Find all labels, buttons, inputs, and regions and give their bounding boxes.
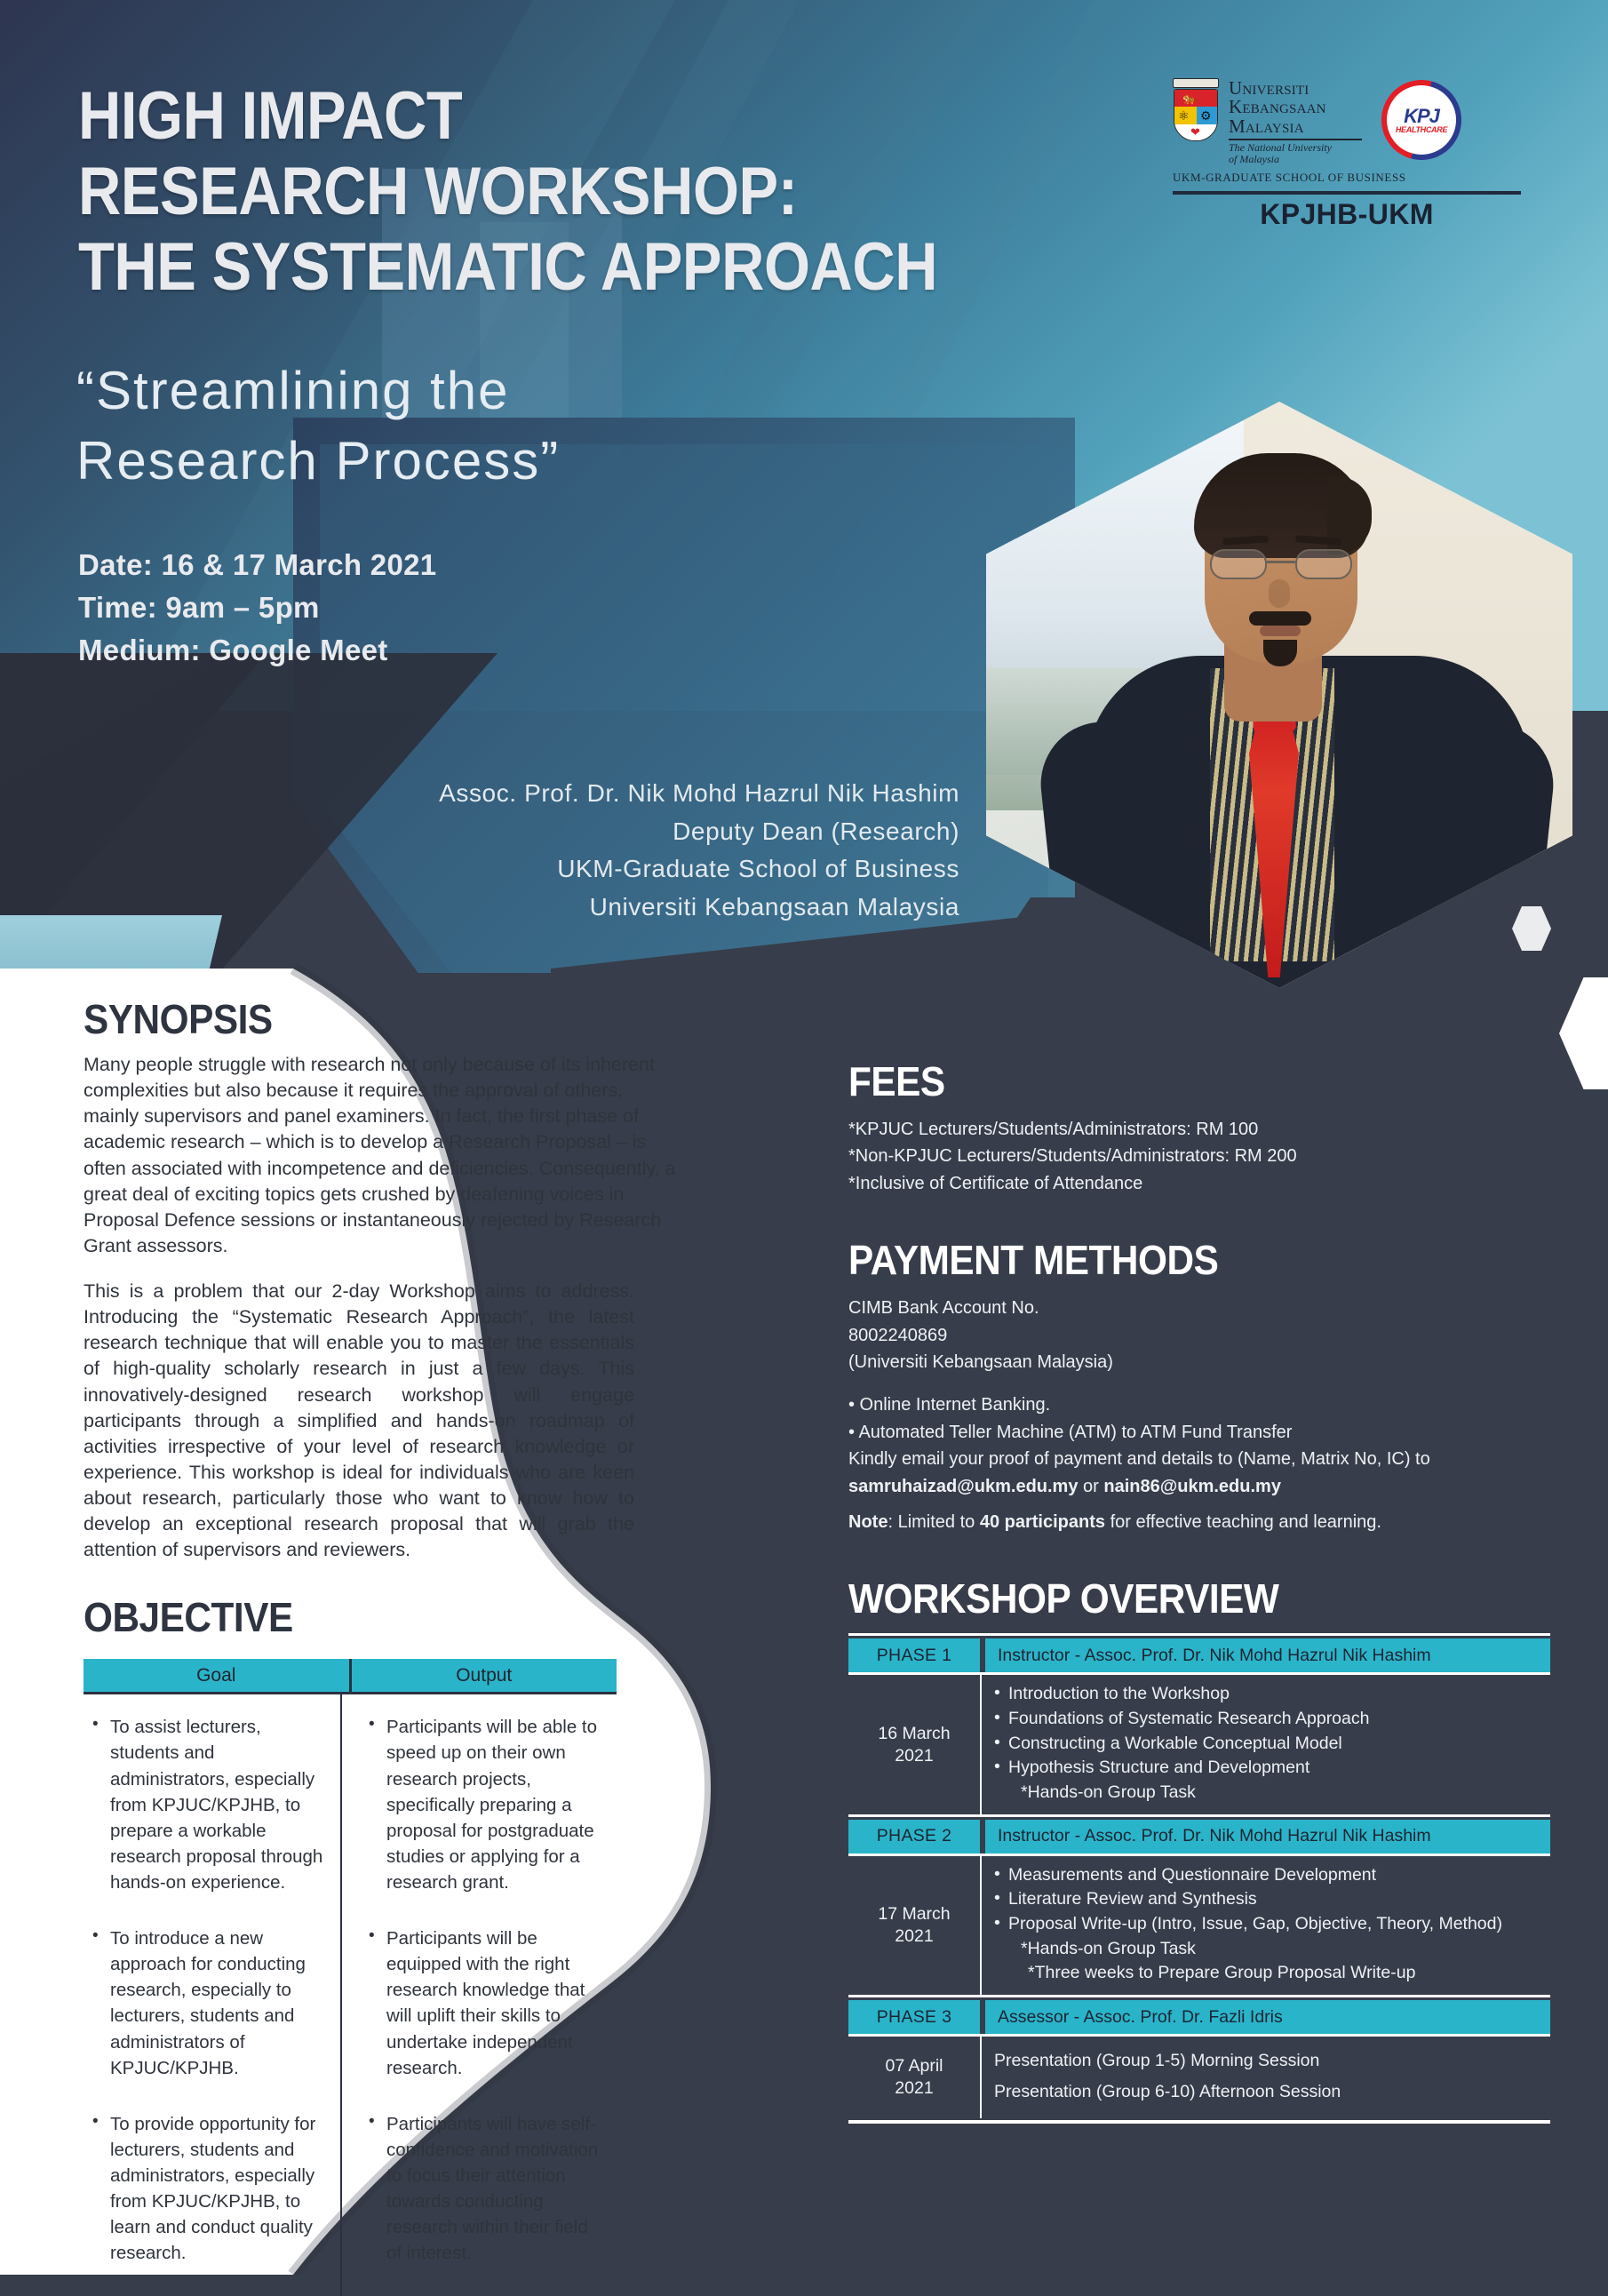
phase-label: PHASE 3 [848, 2000, 980, 2034]
list-item: *Hands-on Group Task [994, 1937, 1550, 1962]
synopsis-heading: SYNOPSIS [84, 995, 704, 1043]
table-row: 07 April 2021 Presentation (Group 1-5) M… [848, 2037, 1550, 2118]
phase-instructor: Instructor - Assoc. Prof. Dr. Nik Mohd H… [985, 1820, 1550, 1854]
note-mid: : Limited to [888, 1512, 979, 1532]
note-limit: 40 participants [980, 1512, 1105, 1532]
table-row: PHASE 1 Instructor - Assoc. Prof. Dr. Ni… [848, 1638, 1550, 1672]
phase-label: PHASE 1 [848, 1638, 980, 1672]
ukm-subtitle: The National University of Malaysia [1229, 142, 1362, 166]
ukm-logo: 🐅 ⚛ ⚙ ❤ Universiti Kebangsaan Malaysia T… [1171, 78, 1362, 165]
contact-email-1[interactable]: samruhaizad@ukm.edu.my [848, 1477, 1078, 1496]
workshop-overview-table: PHASE 1 Instructor - Assoc. Prof. Dr. Ni… [848, 1633, 1550, 2124]
note-end: for effective teaching and learning. [1105, 1512, 1381, 1532]
table-row: PHASE 3 Assessor - Assoc. Prof. Dr. Fazl… [848, 2000, 1550, 2034]
right-column: FEES *KPJUC Lecturers/Students/Administr… [848, 1057, 1550, 2124]
speaker-info: Assoc. Prof. Dr. Nik Mohd Hazrul Nik Has… [302, 775, 959, 926]
objective-output-column: Participants will be able to speed up on… [342, 1694, 617, 2296]
workshop-tagline: “Streamlining the Research Process” [76, 355, 560, 496]
list-item: Presentation (Group 6-10) Afternoon Sess… [994, 2077, 1550, 2108]
synopsis-paragraph-2: This is a problem that our 2-day Worksho… [84, 1279, 634, 1563]
phase-items: Presentation (Group 1-5) Morning Session… [982, 2037, 1550, 2118]
objective-goal-column: To assist lecturers, students and admini… [84, 1694, 340, 2296]
list-item: *Hands-on Group Task [994, 1781, 1550, 1806]
ukm-name-line3: Malaysia [1229, 117, 1362, 136]
workshop-overview-heading: WORKSHOP OVERVIEW [848, 1575, 1494, 1622]
list-item: Literature Review and Synthesis [994, 1887, 1550, 1912]
fees-line-1: *KPJUC Lecturers/Students/Administrators… [848, 1116, 1550, 1143]
objective-table: Goal Output To assist lecturers, student… [84, 1659, 617, 2296]
objective-output-item: Participants will be able to speed up on… [369, 1714, 602, 1895]
list-item: Measurements and Questionnaire Developme… [994, 1863, 1550, 1888]
table-row: 17 March 2021 Measurements and Questionn… [848, 1856, 1550, 1995]
objective-output-item: Participants will be equipped with the r… [369, 1925, 602, 2081]
ukm-name-line2: Kebangsaan [1229, 98, 1362, 116]
kpj-logo-text: KPJ [1404, 107, 1439, 126]
list-item: Proposal Write-up (Intro, Issue, Gap, Ob… [994, 1912, 1550, 1937]
synopsis-paragraph-1: Many people struggle with research not o… [84, 1052, 679, 1259]
kpj-healthcare-logo: KPJ HEALTHCARE [1381, 80, 1461, 160]
list-item: Hypothesis Structure and Development [994, 1756, 1550, 1781]
bank-account-holder: (Universiti Kebangsaan Malaysia) [848, 1349, 1550, 1375]
note-label: Note [848, 1512, 888, 1532]
phase-date: 17 March 2021 [848, 1856, 980, 1995]
partnership-label: KPJHB-UKM [1173, 198, 1521, 231]
list-item: Presentation (Group 1-5) Morning Session [994, 2045, 1550, 2077]
objective-output-item: Participants will have self-confidence a… [369, 2111, 602, 2267]
objective-goal-item: To introduce a new approach for conducti… [92, 1925, 326, 2081]
kpj-logo-subtext: HEALTHCARE [1396, 126, 1447, 134]
page-title: HIGH IMPACT RESEARCH WORKSHOP: THE SYSTE… [78, 78, 937, 305]
ukm-name-line1: Universiti [1229, 79, 1362, 98]
payment-email-instruction: Kindly email your proof of payment and d… [848, 1446, 1550, 1472]
objective-goal-item: To provide opportunity for lecturers, st… [92, 2111, 326, 2267]
poster-canvas: HIGH IMPACT RESEARCH WORKSHOP: THE SYSTE… [0, 0, 1608, 2275]
phase-items: Measurements and Questionnaire Developme… [982, 1856, 1550, 1995]
fees-heading: FEES [848, 1057, 1494, 1105]
phase-date: 16 March 2021 [848, 1675, 980, 1814]
bank-account-number: 8002240869 [848, 1322, 1550, 1349]
objective-col-output: Output [352, 1659, 617, 1692]
email-conjunction: or [1078, 1477, 1103, 1496]
ukm-crest-icon: 🐅 ⚛ ⚙ ❤ [1171, 78, 1221, 142]
payment-email-line: samruhaizad@ukm.edu.my or nain86@ukm.edu… [848, 1473, 1550, 1500]
table-row: PHASE 2 Instructor - Assoc. Prof. Dr. Ni… [848, 1820, 1550, 1854]
left-column: SYNOPSIS Many people struggle with resea… [84, 995, 759, 2296]
phase-date: 07 April 2021 [848, 2037, 980, 2118]
payment-method-1: • Online Internet Banking. [848, 1391, 1550, 1418]
event-details: Date: 16 & 17 March 2021 Time: 9am – 5pm… [78, 544, 436, 672]
phase-label: PHASE 2 [848, 1820, 980, 1854]
fees-line-2: *Non-KPJUC Lecturers/Students/Administra… [848, 1143, 1550, 1169]
list-item: Foundations of Systematic Research Appro… [994, 1707, 1550, 1732]
logo-divider [1173, 191, 1521, 195]
list-item: Constructing a Workable Conceptual Model [994, 1732, 1550, 1757]
payment-method-2: • Automated Teller Machine (ATM) to ATM … [848, 1419, 1550, 1446]
contact-email-2[interactable]: nain86@ukm.edu.my [1103, 1477, 1281, 1496]
objective-table-header: Goal Output [84, 1659, 617, 1694]
participant-note: Note: Limited to 40 participants for eff… [848, 1509, 1550, 1535]
phase-assessor: Assessor - Assoc. Prof. Dr. Fazli Idris [985, 2000, 1550, 2034]
objective-col-goal: Goal [84, 1659, 349, 1692]
table-row: 16 March 2021 Introduction to the Worksh… [848, 1675, 1550, 1814]
list-item: Introduction to the Workshop [994, 1682, 1550, 1707]
payment-heading: PAYMENT METHODS [848, 1236, 1494, 1284]
list-item: *Three weeks to Prepare Group Proposal W… [994, 1961, 1550, 1986]
objective-heading: OBJECTIVE [84, 1593, 704, 1641]
fees-line-3: *Inclusive of Certificate of Attendance [848, 1170, 1550, 1197]
bank-name: CIMB Bank Account No. [848, 1295, 1550, 1321]
phase-items: Introduction to the Workshop Foundations… [982, 1675, 1550, 1814]
objective-goal-item: To assist lecturers, students and admini… [92, 1714, 326, 1895]
logo-block: 🐅 ⚛ ⚙ ❤ Universiti Kebangsaan Malaysia T… [1171, 78, 1544, 231]
ukm-gsb-label: UKM-GRADUATE SCHOOL OF BUSINESS [1173, 171, 1544, 185]
phase-instructor: Instructor - Assoc. Prof. Dr. Nik Mohd H… [985, 1638, 1550, 1672]
